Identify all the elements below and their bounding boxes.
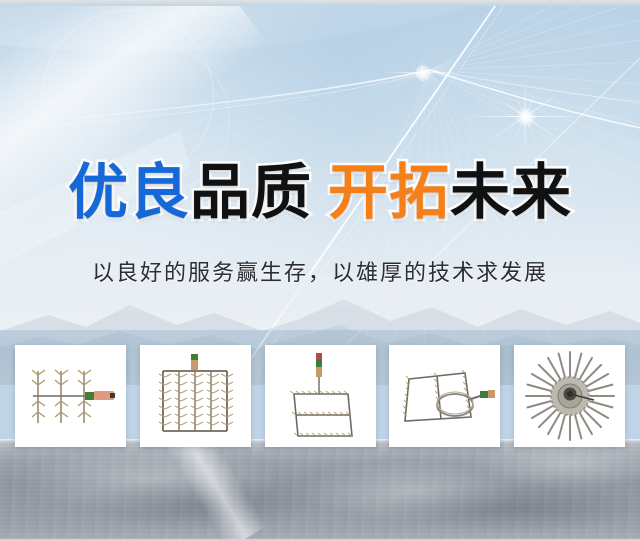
headline-segment-3: 开拓: [328, 158, 450, 228]
subtitle: 以良好的服务赢生存，以雄厚的技术求发展: [0, 255, 640, 287]
product-card-2[interactable]: [140, 345, 251, 447]
promo-banner: 优良品质开拓未来 以良好的服务赢生存，以雄厚的技术求发展: [0, 0, 640, 539]
comb-rack-fixture-icon: [21, 355, 121, 437]
product-card-5[interactable]: [514, 345, 625, 447]
headline-segment-2: 品质: [190, 158, 312, 228]
headline-segment-1: 优良: [68, 158, 190, 228]
multi-row-spike-rack-icon: [149, 352, 241, 440]
product-card-3[interactable]: [265, 345, 376, 447]
lens-flare-star-icon: [525, 116, 527, 118]
flat-frame-ring-rack-icon: [395, 359, 495, 433]
product-card-4[interactable]: [389, 345, 500, 447]
radial-star-fixture-icon: [524, 350, 616, 442]
ladder-frame-rack-icon: [280, 352, 360, 440]
top-edge-strip: [0, 0, 640, 6]
headline: 优良品质开拓未来: [0, 158, 640, 228]
lens-flare-secondary-icon: [422, 72, 424, 74]
product-card-1[interactable]: [15, 345, 126, 447]
headline-segment-4: 未来: [450, 158, 572, 228]
ground-pavement: [0, 439, 640, 539]
product-thumbnail-strip: [15, 345, 625, 447]
